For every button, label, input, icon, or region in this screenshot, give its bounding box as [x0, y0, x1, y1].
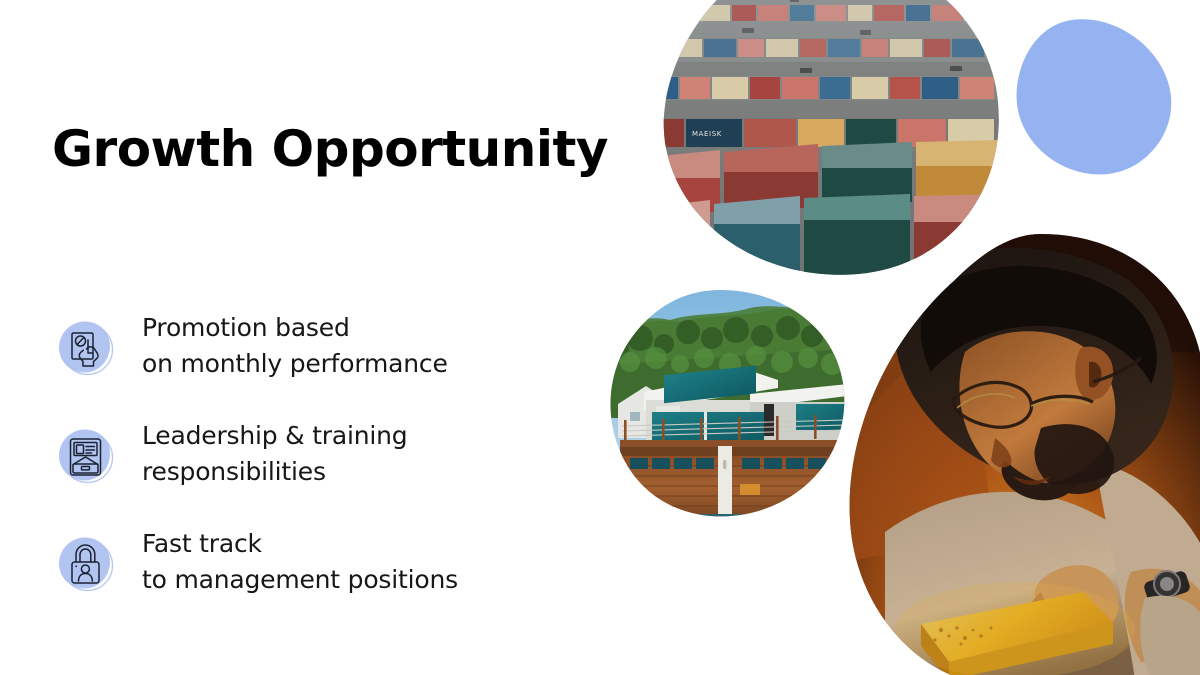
- page-title: Growth Opportunity: [52, 122, 608, 177]
- list-item-label: Promotion based on monthly performance: [142, 310, 448, 383]
- list-item: Fast track to management positions: [52, 528, 572, 636]
- list-item: Promotion based on monthly performance: [52, 312, 572, 420]
- list-item: Leadership & training responsibilities: [52, 420, 572, 528]
- presentation-briefcase-icon: [52, 424, 118, 490]
- benefits-list: Promotion based on monthly performance: [52, 312, 572, 636]
- left-content-column: Growth Opportunity: [0, 0, 600, 675]
- slide-canvas: Growth Opportunity: [0, 0, 1200, 675]
- modern-house-image: [600, 288, 848, 538]
- svg-text:MAEISK: MAEISK: [692, 130, 722, 138]
- lock-person-icon: [52, 532, 118, 598]
- blue-blob-decoration: [1012, 18, 1177, 178]
- document-hand-icon: [52, 316, 118, 382]
- list-item-label: Leadership & training responsibilities: [142, 418, 407, 491]
- list-item-label: Fast track to management positions: [142, 526, 458, 599]
- person-working-image: [845, 232, 1200, 675]
